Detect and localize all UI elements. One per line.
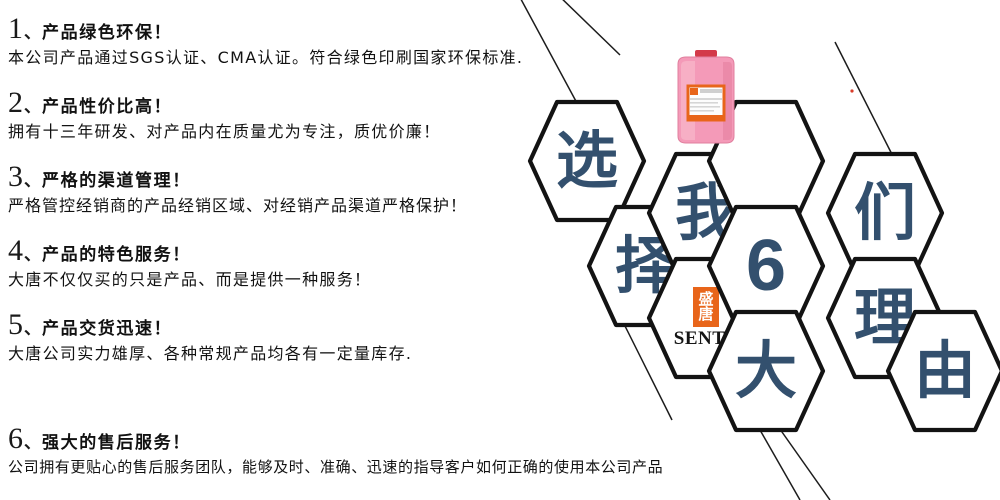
reason-separator-2: 、 bbox=[24, 99, 41, 116]
reason-body-5: 大唐公司实力雄厚、各种常规产品均各有一定量库存. bbox=[8, 344, 548, 364]
reason-number-2: 2 bbox=[8, 88, 23, 118]
reason-heading-5: 5 、 产品交货迅速！ bbox=[8, 310, 548, 340]
reason-body-1: 本公司产品通过SGS认证、CMA认证。符合绿色印刷国家环保标准. bbox=[8, 48, 548, 68]
reason-item-5: 5 、 产品交货迅速！ 大唐公司实力雄厚、各种常规产品均各有一定量库存. bbox=[8, 310, 548, 364]
reason-heading-2: 2 、 产品性价比高！ bbox=[8, 88, 548, 118]
reason-item-1: 1 、 产品绿色环保！ 本公司产品通过SGS认证、CMA认证。符合绿色印刷国家环… bbox=[8, 14, 548, 68]
hex-char-you: 由 bbox=[885, 308, 1000, 434]
reason-number-4: 4 bbox=[8, 236, 23, 266]
reason-heading-6: 6 、 强大的售后服务！ bbox=[8, 424, 548, 454]
hex-cell-da: 大 bbox=[706, 308, 826, 434]
reason-title-5: 产品交货迅速！ bbox=[42, 321, 172, 338]
reason-item-4: 4 、 产品的特色服务！ 大唐不仅仅买的只是产品、而是提供一种服务！ bbox=[8, 236, 548, 290]
reason-title-3: 严格的渠道管理！ bbox=[42, 173, 191, 190]
reason-separator-5: 、 bbox=[24, 321, 41, 338]
hex-cell-you: 由 bbox=[885, 308, 1000, 434]
reason-title-1: 产品绿色环保！ bbox=[42, 25, 172, 42]
reason-title-6: 强大的售后服务！ bbox=[42, 435, 191, 452]
reason-number-5: 5 bbox=[8, 310, 23, 340]
reason-body-4: 大唐不仅仅买的只是产品、而是提供一种服务！ bbox=[8, 270, 548, 290]
reason-separator-1: 、 bbox=[24, 25, 41, 42]
reason-heading-1: 1 、 产品绿色环保！ bbox=[8, 14, 548, 44]
reason-separator-6: 、 bbox=[24, 435, 41, 452]
reason-body-3: 严格管控经销商的产品经销区域、对经销产品渠道严格保护！ bbox=[8, 196, 548, 216]
reason-separator-4: 、 bbox=[24, 247, 41, 264]
reason-title-4: 产品的特色服务！ bbox=[42, 247, 191, 264]
reason-number-1: 1 bbox=[8, 14, 23, 44]
reason-heading-4: 4 、 产品的特色服务！ bbox=[8, 236, 548, 266]
reason-number-6: 6 bbox=[8, 424, 23, 454]
reason-separator-3: 、 bbox=[24, 173, 41, 190]
reason-list: 1 、 产品绿色环保！ 本公司产品通过SGS认证、CMA认证。符合绿色印刷国家环… bbox=[8, 0, 548, 500]
poster-canvas: 1 、 产品绿色环保！ 本公司产品通过SGS认证、CMA认证。符合绿色印刷国家环… bbox=[0, 0, 1000, 500]
hex-char-da: 大 bbox=[706, 308, 826, 434]
reason-body-2: 拥有十三年研发、对产品内在质量尤为专注，质优价廉！ bbox=[8, 122, 548, 142]
reason-item-6: 6 、 强大的售后服务！ 公司拥有更贴心的售后服务团队，能够及时、准确、迅速的指… bbox=[8, 424, 548, 477]
reason-item-2: 2 、 产品性价比高！ 拥有十三年研发、对产品内在质量尤为专注，质优价廉！ bbox=[8, 88, 548, 142]
reason-title-2: 产品性价比高！ bbox=[42, 99, 172, 116]
reason-number-3: 3 bbox=[8, 162, 23, 192]
jerry-can-icon bbox=[673, 50, 739, 146]
reason-body-6: 公司拥有更贴心的售后服务团队，能够及时、准确、迅速的指导客户如何正确的使用本公司… bbox=[8, 458, 548, 477]
reason-heading-3: 3 、 严格的渠道管理！ bbox=[8, 162, 548, 192]
reason-item-3: 3 、 严格的渠道管理！ 严格管控经销商的产品经销区域、对经销产品渠道严格保护！ bbox=[8, 162, 548, 216]
